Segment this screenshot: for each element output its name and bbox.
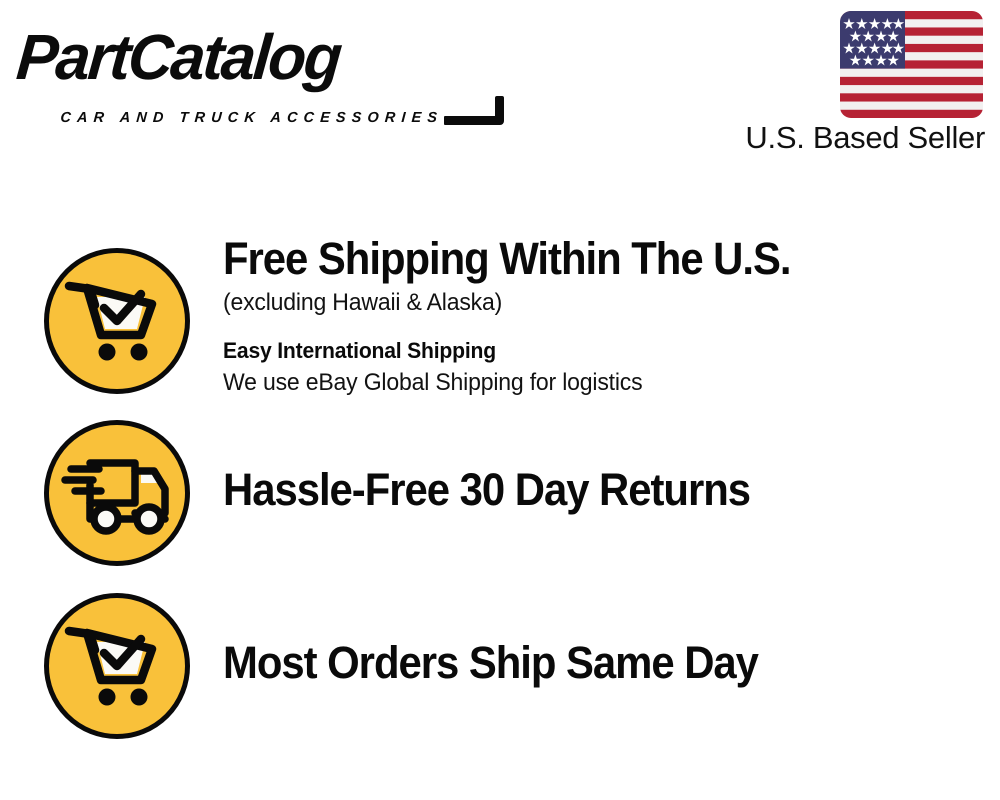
feature-headline-same-day: Most Orders Ship Same Day	[223, 638, 758, 688]
cart-check-icon	[44, 593, 190, 739]
page-header: PartCatalog CAR AND TRUCK ACCESSORIES	[0, 0, 1000, 170]
delivery-truck-icon	[44, 420, 190, 566]
feature-row-returns: Hassle-Free 30 Day Returns	[0, 420, 1000, 570]
feature-headline-returns: Hassle-Free 30 Day Returns	[223, 465, 750, 515]
brand-logo[interactable]: PartCatalog CAR AND TRUCK ACCESSORIES	[20, 22, 490, 117]
feature-row-shipping: Free Shipping Within The U.S. (excluding…	[0, 248, 1000, 398]
feature-subheading-international: Easy International Shipping	[223, 336, 496, 366]
us-based-seller-label: U.S. Based Seller	[600, 120, 985, 156]
feature-note-shipping: (excluding Hawaii & Alaska)	[223, 288, 502, 318]
brand-tagline: CAR AND TRUCK ACCESSORIES	[60, 110, 444, 126]
cart-check-icon	[44, 248, 190, 394]
feature-headline-shipping: Free Shipping Within The U.S.	[223, 234, 790, 284]
us-flag-icon	[840, 11, 983, 118]
feature-row-same-day: Most Orders Ship Same Day	[0, 593, 1000, 743]
logo-swash-riser-decoration	[495, 96, 504, 122]
feature-detail-international: We use eBay Global Shipping for logistic…	[223, 368, 642, 398]
brand-wordmark: PartCatalog	[14, 22, 343, 92]
